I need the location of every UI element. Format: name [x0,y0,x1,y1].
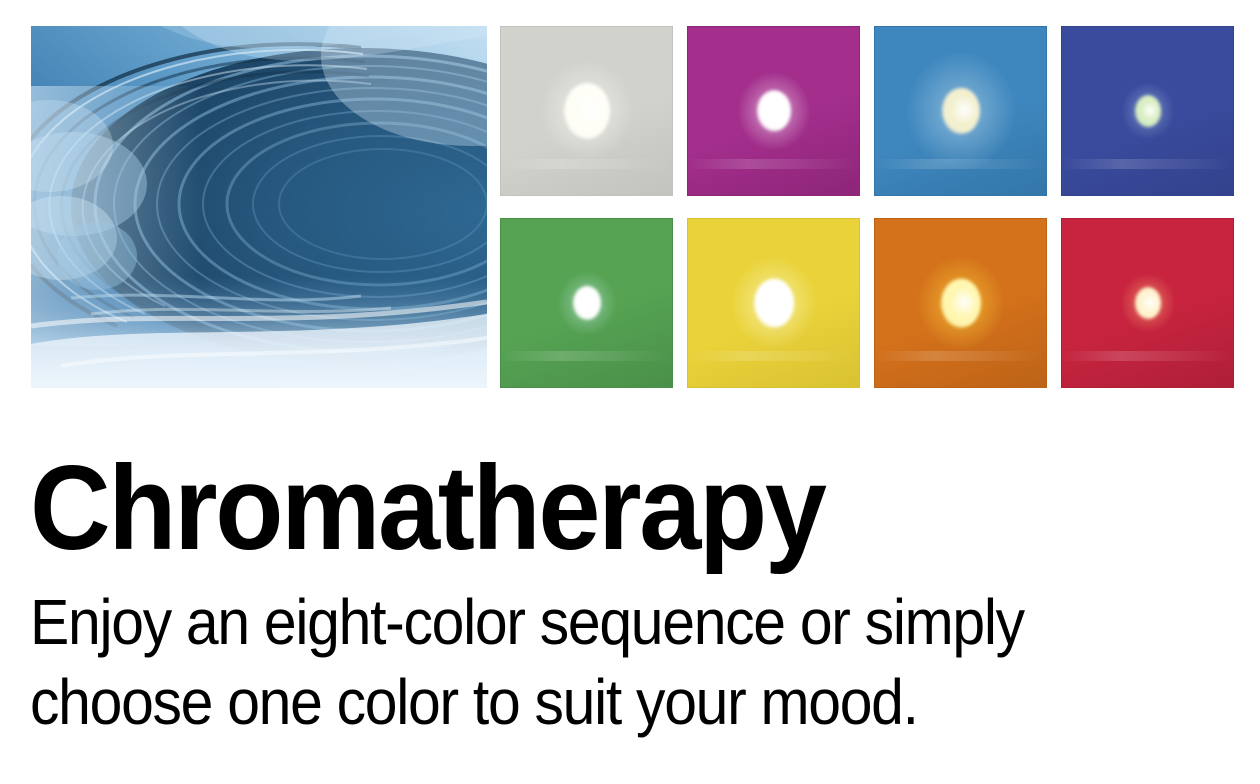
swatch-streak-indigo [1061,159,1234,169]
swatch-green[interactable] [500,218,673,388]
chromatherapy-page: Chromatherapy Enjoy an eight-color seque… [0,0,1260,784]
swatch-yellow[interactable] [687,218,860,388]
swatch-streak-orange [874,351,1047,361]
swatch-streak-yellow [687,351,860,361]
swatch-white[interactable] [500,26,673,196]
swatch-red[interactable] [1061,218,1234,388]
swatch-light-blue[interactable] [874,26,1047,196]
hero-ripple-image [31,26,487,388]
swatch-glow-light-blue [942,88,980,134]
text-block: Chromatherapy Enjoy an eight-color seque… [30,452,1230,742]
swatch-glow-green [573,286,601,320]
swatch-streak-magenta [687,159,860,169]
swatch-glow-white [564,83,610,139]
media-band [0,0,1260,400]
page-title: Chromatherapy [30,452,1146,564]
swatch-orange[interactable] [874,218,1047,388]
swatch-glow-red [1135,287,1161,319]
swatch-glow-indigo [1135,95,1161,127]
ripple-illustration [31,26,487,388]
swatch-glow-yellow [754,279,794,328]
swatch-streak-green [500,351,673,361]
page-subtitle: Enjoy an eight-color sequence or simply … [30,564,1134,742]
swatch-streak-red [1061,351,1234,361]
swatch-glow-orange [941,279,981,328]
color-swatch-grid [500,26,1233,388]
swatch-indigo[interactable] [1061,26,1234,196]
swatch-magenta[interactable] [687,26,860,196]
